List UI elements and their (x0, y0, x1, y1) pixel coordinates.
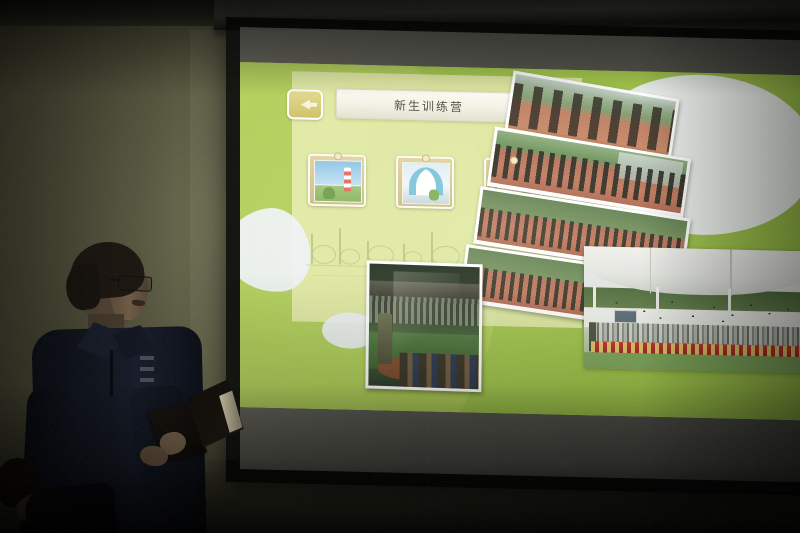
classroom-presentation-scene: 新生训练营 (0, 0, 800, 533)
scene-vignette (0, 0, 800, 533)
